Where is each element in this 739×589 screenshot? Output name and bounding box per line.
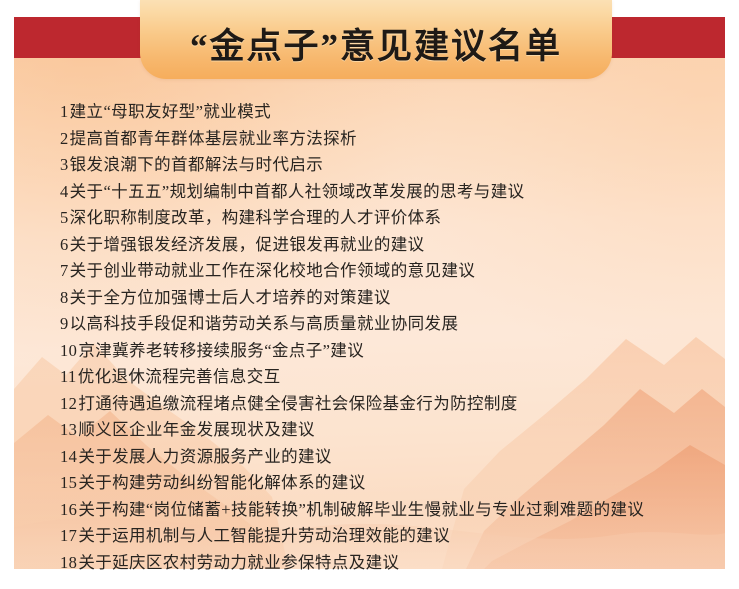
- list-item-number: 7: [60, 261, 69, 280]
- list-item-number: 12: [60, 394, 77, 413]
- list-item-text: 京津冀养老转移接续服务“金点子”建议: [78, 341, 364, 360]
- list-item-number: 5: [60, 208, 69, 227]
- list-item-text: 以高科技手段促和谐劳动关系与高质量就业协同发展: [70, 314, 459, 333]
- list-item: 12打通待遇追缴流程堵点健全侵害社会保险基金行为防控制度: [60, 391, 725, 418]
- list-item-number: 17: [60, 526, 77, 545]
- list-item-text: 提高首都青年群体基层就业率方法探析: [70, 129, 357, 148]
- list-item-text: 顺义区企业年金发展现状及建议: [78, 420, 315, 439]
- list-item: 17关于运用机制与人工智能提升劳动治理效能的建议: [60, 523, 725, 550]
- list-item-number: 9: [60, 314, 69, 333]
- list-item-text: 关于“十五五”规划编制中首都人社领域改革发展的思考与建议: [70, 182, 525, 201]
- title-plaque: “金点子”意见建议名单: [140, 0, 612, 79]
- list-item: 14关于发展人力资源服务产业的建议: [60, 444, 725, 471]
- list-item-number: 3: [60, 155, 69, 174]
- list-item: 1建立“母职友好型”就业模式: [60, 99, 725, 126]
- list-item-number: 11: [60, 367, 77, 386]
- list-item-number: 10: [60, 341, 77, 360]
- list-item: 4关于“十五五”规划编制中首都人社领域改革发展的思考与建议: [60, 179, 725, 206]
- list-item-text: 优化退休流程完善信息交互: [78, 367, 281, 386]
- list-item-text: 关于全方位加强博士后人才培养的对策建议: [70, 288, 391, 307]
- list-item-number: 1: [60, 102, 69, 121]
- list-item-number: 6: [60, 235, 69, 254]
- list-item: 5深化职称制度改革，构建科学合理的人才评价体系: [60, 205, 725, 232]
- list-item-number: 8: [60, 288, 69, 307]
- list-item: 15关于构建劳动纠纷智能化解体系的建议: [60, 470, 725, 497]
- list-item-text: 关于创业带动就业工作在深化校地合作领域的意见建议: [70, 261, 476, 280]
- list-item-number: 18: [60, 553, 77, 572]
- poster-canvas: “金点子”意见建议名单 1建立“母职友好型”就业模式 2提高首都青年群体基层就业…: [0, 0, 739, 589]
- list-item-text: 关于构建“岗位储蓄+技能转换”机制破解毕业生慢就业与专业过剩难题的建议: [78, 500, 644, 519]
- list-item: 7关于创业带动就业工作在深化校地合作领域的意见建议: [60, 258, 725, 285]
- list-item-number: 16: [60, 500, 77, 519]
- list-item: 8关于全方位加强博士后人才培养的对策建议: [60, 285, 725, 312]
- list-item: 9以高科技手段促和谐劳动关系与高质量就业协同发展: [60, 311, 725, 338]
- list-item-text: 关于运用机制与人工智能提升劳动治理效能的建议: [78, 526, 450, 545]
- list-item: 13顺义区企业年金发展现状及建议: [60, 417, 725, 444]
- suggestion-list: 1建立“母职友好型”就业模式 2提高首都青年群体基层就业率方法探析 3银发浪潮下…: [60, 99, 725, 576]
- list-item-text: 关于发展人力资源服务产业的建议: [78, 447, 332, 466]
- list-item-text: 深化职称制度改革，构建科学合理的人才评价体系: [70, 208, 442, 227]
- list-item: 18关于延庆区农村劳动力就业参保特点及建议: [60, 550, 725, 577]
- list-item-text: 打通待遇追缴流程堵点健全侵害社会保险基金行为防控制度: [78, 394, 517, 413]
- list-item-text: 关于增强银发经济发展，促进银发再就业的建议: [70, 235, 425, 254]
- list-item-number: 14: [60, 447, 77, 466]
- list-item-text: 关于构建劳动纠纷智能化解体系的建议: [78, 473, 365, 492]
- list-item-number: 2: [60, 129, 69, 148]
- list-item: 11优化退休流程完善信息交互: [60, 364, 725, 391]
- list-item: 2提高首都青年群体基层就业率方法探析: [60, 126, 725, 153]
- page-title: “金点子”意见建议名单: [190, 29, 562, 64]
- list-item: 16关于构建“岗位储蓄+技能转换”机制破解毕业生慢就业与专业过剩难题的建议: [60, 497, 725, 524]
- list-item-number: 15: [60, 473, 77, 492]
- list-item: 10京津冀养老转移接续服务“金点子”建议: [60, 338, 725, 365]
- list-item: 6关于增强银发经济发展，促进银发再就业的建议: [60, 232, 725, 259]
- list-item: 3银发浪潮下的首都解法与时代启示: [60, 152, 725, 179]
- list-item-text: 银发浪潮下的首都解法与时代启示: [70, 155, 324, 174]
- list-item-text: 关于延庆区农村劳动力就业参保特点及建议: [78, 553, 399, 572]
- list-item-number: 13: [60, 420, 77, 439]
- list-item-text: 建立“母职友好型”就业模式: [70, 102, 271, 121]
- list-item-number: 4: [60, 182, 69, 201]
